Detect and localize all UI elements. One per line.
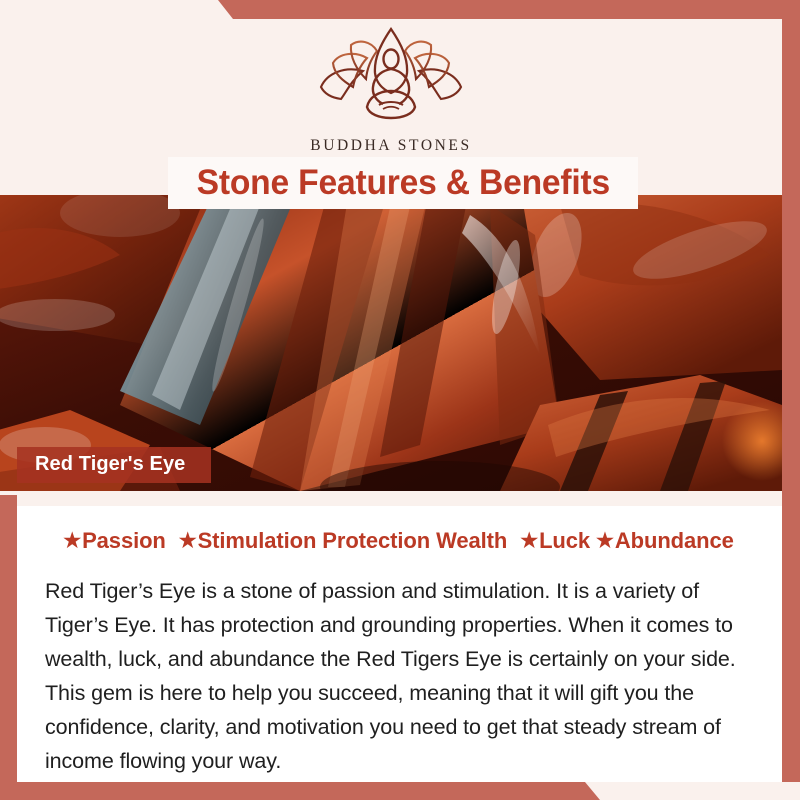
benefit-item-abundance: ★ Abundance — [596, 528, 734, 554]
benefit-label: Stimulation Protection Wealth — [198, 528, 508, 554]
stone-name-label: Red Tiger's Eye — [35, 453, 185, 475]
decor-band-top — [0, 0, 800, 19]
star-icon: ★ — [596, 531, 614, 551]
red-tigers-eye-stones-photo: Red Tiger's Eye — [0, 195, 782, 491]
star-icon: ★ — [520, 531, 538, 551]
lotus-meditation-icon — [307, 25, 475, 133]
benefit-label: Luck — [539, 528, 590, 554]
title-banner: Stone Features & Benefits — [168, 157, 638, 209]
brand-wordmark: BUDDHA STONES — [310, 137, 471, 155]
decor-band-right — [782, 0, 800, 782]
benefit-item-stimulation-protection-wealth: ★ Stimulation Protection Wealth — [179, 528, 507, 554]
content-card: ★ Passion ★ Stimulation Protection Wealt… — [17, 491, 782, 782]
poster-root: BUDDHA STONES Stone Features & Benefits — [0, 0, 800, 800]
star-icon: ★ — [63, 531, 81, 551]
decor-band-bottom — [0, 782, 800, 800]
header: BUDDHA STONES Stone Features & Benefits — [0, 19, 782, 195]
benefit-item-passion: ★ Passion — [63, 528, 166, 554]
brand-logo: BUDDHA STONES — [0, 25, 782, 155]
benefits-list: ★ Passion ★ Stimulation Protection Wealt… — [45, 528, 752, 554]
stone-name-badge: Red Tiger's Eye — [17, 447, 211, 483]
benefit-label: Passion — [82, 528, 166, 554]
content-top-strip — [17, 491, 782, 506]
benefit-item-luck: ★ Luck — [520, 528, 590, 554]
decor-band-left — [0, 495, 17, 800]
benefit-label: Abundance — [615, 528, 734, 554]
star-icon: ★ — [179, 531, 197, 551]
stone-description: Red Tiger’s Eye is a stone of passion an… — [45, 574, 752, 778]
page-title: Stone Features & Benefits — [196, 163, 609, 203]
